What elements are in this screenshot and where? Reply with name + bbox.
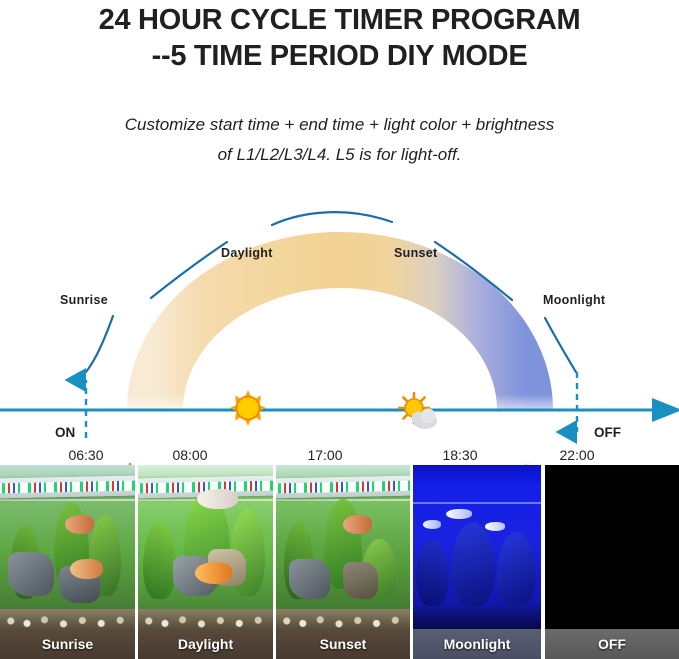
photo-caption: Sunrise (0, 629, 135, 659)
timeline-tick-1700: 17:00 (285, 447, 365, 463)
photo-caption: Sunset (276, 629, 410, 659)
sun-cloud-icon (399, 393, 437, 429)
arc-label-sunrise: Sunrise (60, 293, 108, 307)
photo-panel-sunset: Sunset (276, 465, 410, 659)
page-title: 24 HOUR CYCLE TIMER PROGRAM --5 TIME PER… (0, 2, 679, 74)
timeline-tick-2200: 22:00 (537, 447, 617, 463)
arc-label-daylight: Daylight (221, 246, 273, 260)
photo-caption: Moonlight (413, 629, 541, 659)
page-title-line2: --5 TIME PERIOD DIY MODE (0, 38, 679, 74)
led-bar-icon (276, 475, 410, 498)
connector-off (545, 318, 576, 372)
led-bar-icon (0, 475, 135, 498)
timeline-on-label: ON (55, 425, 75, 440)
page-title-line1: 24 HOUR CYCLE TIMER PROGRAM (0, 2, 679, 38)
aquarium-photo (276, 465, 410, 633)
timeline-off-label: OFF (594, 425, 621, 440)
aquarium-photo (413, 465, 541, 633)
photo-caption: Daylight (138, 629, 273, 659)
page-subtitle: Customize start time + end time + light … (0, 110, 679, 170)
connector-sunset (272, 212, 392, 225)
diagram-canvas (0, 180, 679, 465)
aquarium-photo (545, 465, 679, 633)
page-subtitle-line2: of L1/L2/L3/L4. L5 is for light-off. (0, 140, 679, 170)
aquarium-photo (0, 465, 135, 633)
arc-label-moonlight: Moonlight (543, 293, 605, 307)
aquarium-photo (138, 465, 273, 633)
connector-sunrise (86, 316, 113, 372)
infographic-page: 24 HOUR CYCLE TIMER PROGRAM --5 TIME PER… (0, 0, 679, 659)
sun-icon (230, 390, 266, 426)
photo-panel-daylight: Daylight (138, 465, 273, 659)
photo-caption: OFF (545, 629, 679, 659)
timeline-tick-0630: 06:30 (46, 447, 126, 463)
day-cycle-diagram: Sunrise Daylight Sunset Moonlight ON OFF… (0, 180, 679, 465)
photo-panel-sunrise: Sunrise (0, 465, 135, 659)
page-subtitle-line1: Customize start time + end time + light … (0, 110, 679, 140)
timeline-tick-0800: 08:00 (150, 447, 230, 463)
photo-panel-moonlight: Moonlight (413, 465, 541, 659)
arc-label-sunset: Sunset (394, 246, 437, 260)
aquarium-photo-strip: Sunrise Daylight (0, 465, 679, 659)
timeline-tick-1830: 18:30 (420, 447, 500, 463)
photo-panel-off: OFF (545, 465, 679, 659)
day-arc (120, 260, 560, 416)
